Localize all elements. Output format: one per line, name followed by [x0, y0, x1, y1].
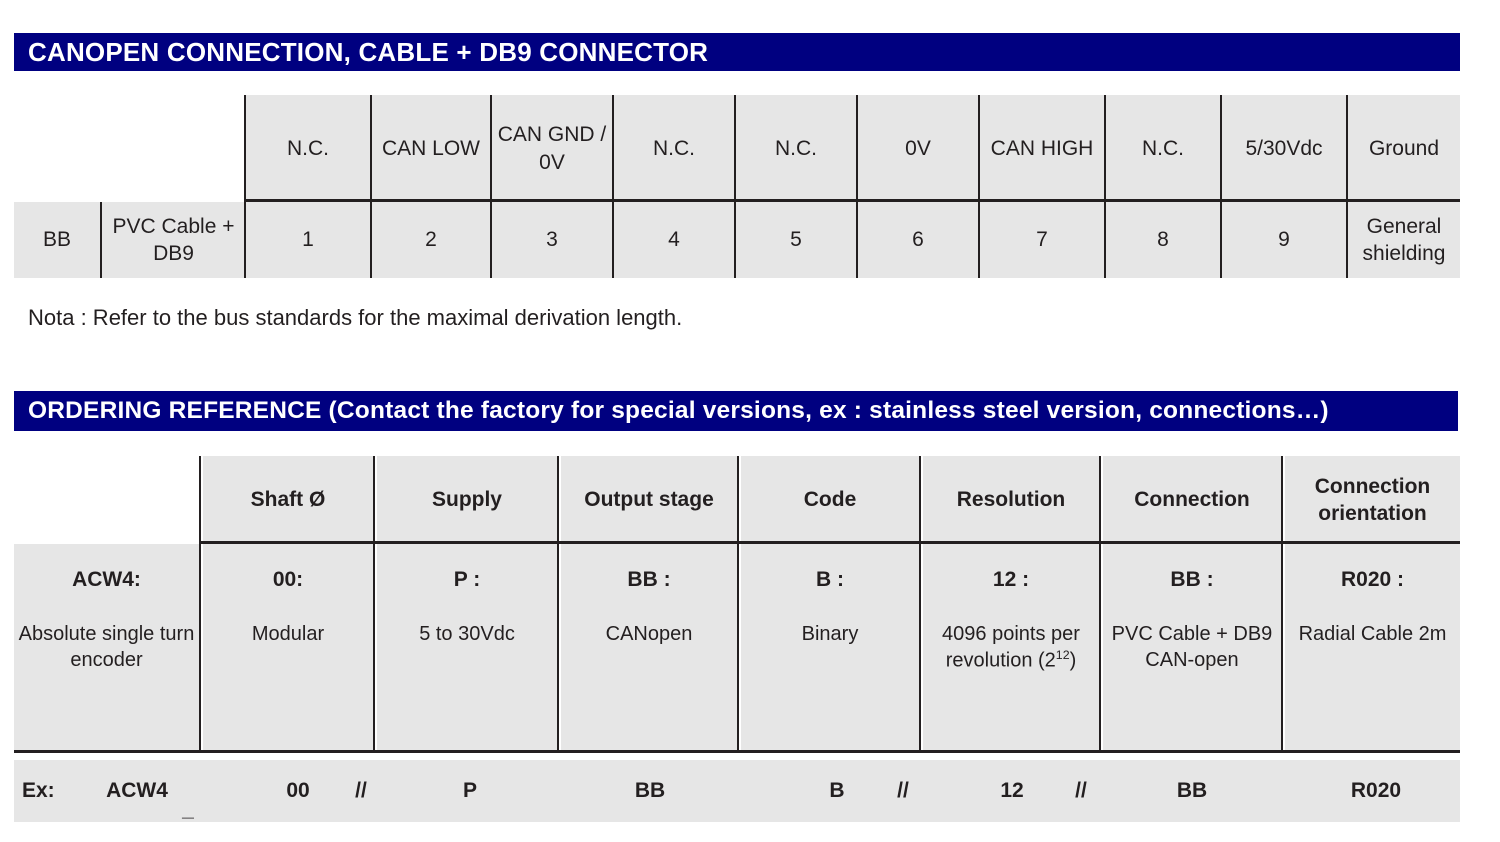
- ordering-divider-6: [1281, 456, 1283, 750]
- ordering-connection-desc: PVC Cable + DB9 CAN-open: [1103, 621, 1281, 673]
- ordering-header-output-stage: Output stage: [561, 456, 737, 544]
- ordering-header-supply: Supply: [377, 456, 557, 544]
- ordering-reference-table: Shaft Ø Supply Output stage Code Resolut…: [0, 0, 1500, 842]
- ordering-header-resolution: Resolution: [923, 456, 1099, 544]
- example-resolution: 12: [982, 760, 1042, 822]
- ordering-shaft-code: 00:: [273, 566, 303, 593]
- ordering-cell-output-stage: BB : CANopen: [561, 544, 737, 750]
- ordering-cell-supply: P : 5 to 30Vdc: [377, 544, 557, 750]
- ordering-divider-5: [1099, 456, 1101, 750]
- example-output-stage: BB: [620, 760, 680, 822]
- ordering-divider-2: [557, 456, 559, 750]
- ordering-cell-shaft: 00: Modular: [203, 544, 373, 750]
- ordering-connection-code: BB :: [1170, 566, 1213, 593]
- ordering-resolution-code: 12 :: [993, 566, 1029, 593]
- ordering-header-connection: Connection: [1103, 456, 1281, 544]
- ordering-cell-connection: BB : PVC Cable + DB9 CAN-open: [1103, 544, 1281, 750]
- ordering-header-code: Code: [741, 456, 919, 544]
- ordering-resolution-desc-exponent: 12: [1056, 648, 1070, 662]
- ordering-header-shaft: Shaft Ø: [203, 456, 373, 544]
- example-orientation: R020: [1338, 760, 1414, 822]
- ordering-output-stage-code: BB :: [627, 566, 670, 593]
- ordering-output-stage-desc: CANopen: [606, 621, 693, 647]
- example-supply: P: [440, 760, 500, 822]
- ordering-supply-desc: 5 to 30Vdc: [419, 621, 515, 647]
- ordering-product-desc: Absolute single turn encoder: [14, 621, 199, 673]
- ordering-divider-0: [199, 456, 201, 750]
- ordering-resolution-desc: 4096 points per revolution (212): [923, 621, 1099, 674]
- example-separator-1: //: [336, 760, 386, 822]
- example-shaft: 00: [258, 760, 338, 822]
- ordering-divider-1: [373, 456, 375, 750]
- ordering-header-connection-orientation: Connection orientation: [1285, 456, 1460, 544]
- example-separator-underscore: _: [168, 760, 208, 832]
- example-label: Ex:: [22, 760, 82, 822]
- ordering-cell-code: B : Binary: [741, 544, 919, 750]
- ordering-cell-connection-orientation: R020 : Radial Cable 2m: [1285, 544, 1460, 750]
- ordering-divider-3: [737, 456, 739, 750]
- ordering-example-rule: [14, 750, 1460, 753]
- ordering-code-code: B :: [816, 566, 844, 593]
- ordering-shaft-desc: Modular: [252, 621, 324, 647]
- ordering-example-row: [14, 760, 1460, 822]
- ordering-supply-code: P :: [454, 566, 480, 593]
- example-separator-2: //: [878, 760, 928, 822]
- ordering-cell-resolution: 12 : 4096 points per revolution (212): [923, 544, 1099, 750]
- ordering-product-code: ACW4:: [72, 566, 141, 593]
- example-connection: BB: [1162, 760, 1222, 822]
- ordering-header-rule: [199, 541, 1460, 544]
- example-separator-3: //: [1056, 760, 1106, 822]
- ordering-divider-4: [919, 456, 921, 750]
- ordering-orientation-desc: Radial Cable 2m: [1299, 621, 1447, 647]
- ordering-cell-product: ACW4: Absolute single turn encoder: [14, 544, 199, 750]
- example-code: B: [812, 760, 862, 822]
- ordering-resolution-desc-suffix: ): [1070, 650, 1077, 672]
- ordering-code-desc: Binary: [802, 621, 859, 647]
- ordering-orientation-code: R020 :: [1341, 566, 1404, 593]
